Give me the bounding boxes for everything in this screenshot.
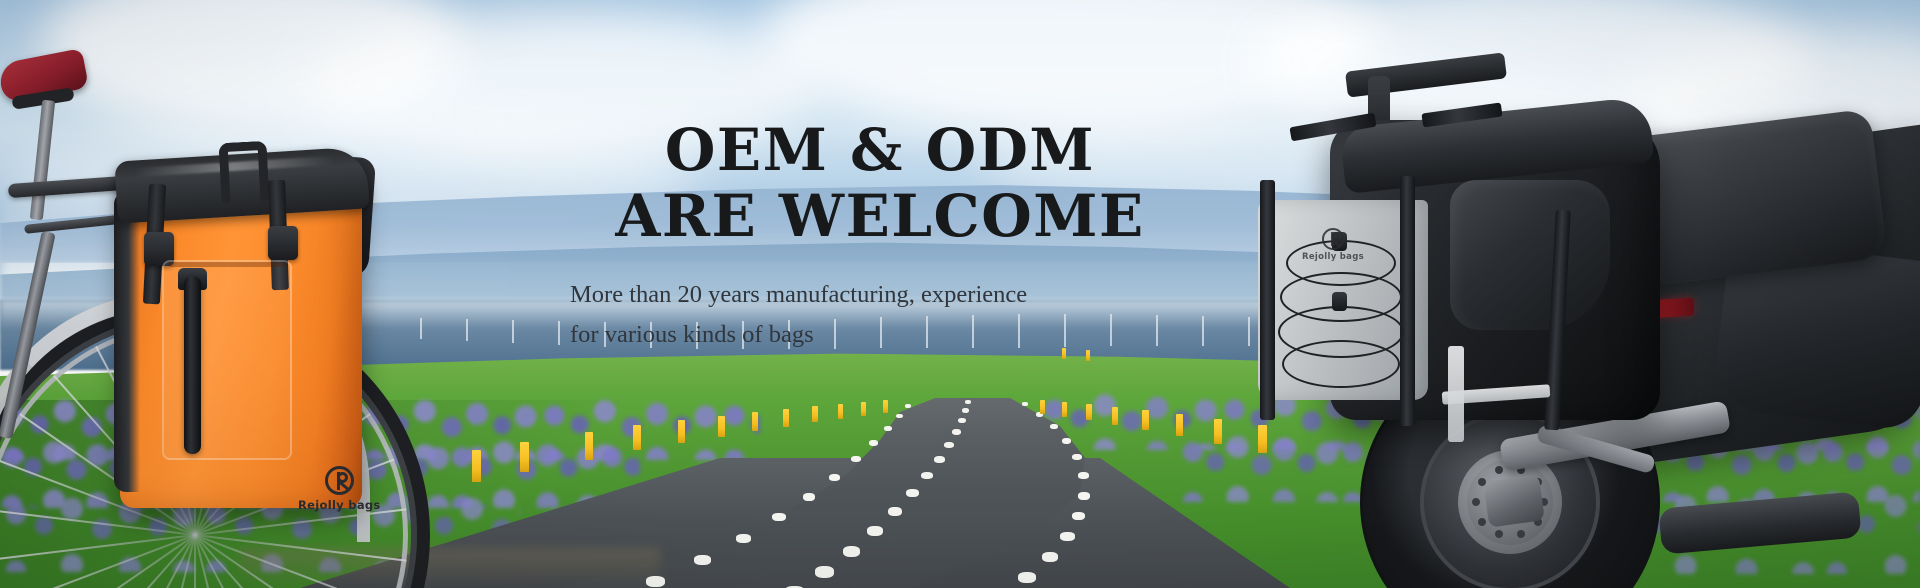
bicycle-pannier-product: Rejolly bags bbox=[0, 0, 520, 588]
banner-text-block: OEM & ODM ARE WELCOME More than 20 years… bbox=[560, 118, 1200, 354]
roadside-marker-post bbox=[812, 406, 818, 422]
pocket-zipper bbox=[168, 262, 286, 267]
roadside-marker-post bbox=[1142, 410, 1149, 430]
roadside-marker-post bbox=[861, 402, 866, 416]
roadside-marker-post bbox=[633, 425, 641, 450]
brand-name-left: Rejolly bags bbox=[298, 498, 381, 512]
subtitle-line-1: More than 20 years manufacturing, experi… bbox=[570, 275, 1200, 315]
saddlebag-strap bbox=[1260, 180, 1275, 420]
carry-handle bbox=[218, 141, 269, 203]
pannier-side-shadow bbox=[114, 192, 140, 492]
motorcycle-saddlebag-product: Rejolly bags bbox=[1250, 0, 1920, 588]
brand-logo-right: Rejolly bags bbox=[1302, 228, 1364, 262]
saddlebag-roll-closure bbox=[1450, 180, 1610, 330]
bungee-cord bbox=[1282, 340, 1400, 388]
roadside-marker-post bbox=[883, 400, 888, 413]
fence-post bbox=[1202, 316, 1204, 346]
roadside-marker-post bbox=[520, 442, 529, 472]
roadside-marker-post bbox=[1176, 414, 1183, 436]
orange-pannier-bag bbox=[120, 140, 380, 510]
subtitle-line-2: for various kinds of bags bbox=[570, 315, 1200, 355]
roadside-marker-post bbox=[1112, 407, 1118, 425]
seat-post bbox=[30, 100, 55, 221]
roadside-marker-post bbox=[718, 416, 725, 437]
reflective-strip bbox=[1448, 346, 1464, 442]
logo-bowl bbox=[337, 472, 348, 483]
brake-caliper bbox=[1483, 474, 1545, 527]
spoke bbox=[194, 535, 196, 588]
roadside-marker-post bbox=[838, 404, 843, 419]
roadside-marker-post bbox=[783, 409, 789, 427]
rejolly-r-logo-icon bbox=[1322, 228, 1344, 250]
roadside-marker-post bbox=[752, 412, 758, 431]
promo-banner: OEM & ODM ARE WELCOME More than 20 years… bbox=[0, 0, 1920, 588]
brand-logo-left: Rejolly bags bbox=[298, 466, 381, 512]
strap-buckle bbox=[268, 226, 298, 260]
saddlebag-strap bbox=[1400, 176, 1415, 426]
roadside-marker-post bbox=[1062, 402, 1067, 417]
roadside-marker-post bbox=[585, 432, 593, 460]
brand-name-right: Rejolly bags bbox=[1302, 252, 1364, 262]
rejolly-r-logo-icon bbox=[325, 466, 354, 495]
bicycle-pump bbox=[184, 276, 201, 454]
subtitle: More than 20 years manufacturing, experi… bbox=[560, 275, 1200, 354]
logo-bowl bbox=[1331, 232, 1339, 240]
headline-line-2: ARE WELCOME bbox=[560, 184, 1200, 250]
front-pocket bbox=[162, 260, 292, 460]
bungee-toggle bbox=[1332, 292, 1347, 311]
roadside-marker-post bbox=[1214, 419, 1222, 444]
exhaust bbox=[1658, 491, 1861, 554]
roadside-marker-post bbox=[1086, 404, 1092, 420]
roadside-marker-post bbox=[678, 420, 685, 443]
disc-hole bbox=[1472, 498, 1480, 506]
disc-hole bbox=[1517, 530, 1525, 538]
roadside-marker-post bbox=[1040, 400, 1045, 414]
headline-line-1: OEM & ODM bbox=[560, 118, 1200, 184]
